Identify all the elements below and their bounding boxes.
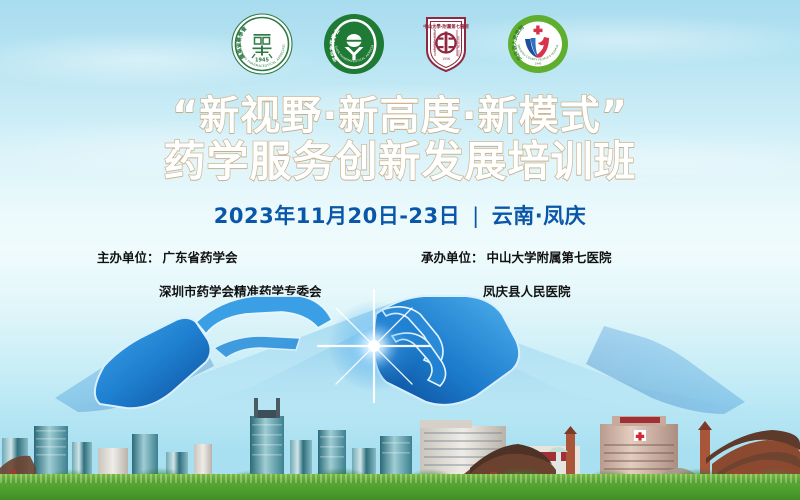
logo-row: 廣東省藥學會 1945 GUANGDONG PHARMACEUTICAL ASS… (0, 8, 800, 80)
cohost-organizer-item-2: 凤庆县人民医院 (483, 284, 571, 299)
svg-text:1956: 1956 (442, 57, 450, 61)
host-organizer-row-1: 主办单位：广东省药学会 (97, 252, 397, 265)
cohost-organizer-label: 承办单位： (421, 250, 484, 265)
cohost-organizer-row-2: 凤庆县人民医院 (421, 286, 721, 299)
cohost-organizer-item-1: 中山大学附属第七医院 (487, 250, 612, 265)
date-location-separator: | (472, 204, 480, 228)
guangdong-pharmaceutical-association-logo: 廣東省藥學會 1945 GUANGDONG PHARMACEUTICAL ASS… (230, 12, 294, 76)
host-organizer-column: 主办单位：广东省药学会 深圳市药学会精准药学专委会 (79, 252, 397, 312)
svg-text:1945: 1945 (255, 58, 269, 64)
host-organizer-row-2: 深圳市药学会精准药学专委会 (97, 286, 397, 299)
cohost-organizer-row-1: 承办单位：中山大学附属第七医院 (421, 252, 721, 265)
svg-text:HOSPITAL SYSU: HOSPITAL SYSU (457, 36, 461, 57)
title-line-1: “新视野·新高度·新模式” (0, 96, 800, 137)
svg-text:1940: 1940 (535, 62, 542, 66)
shenzhen-pharmaceutical-association-logo: 深圳市药学会 SHENZHEN PHARMACEUTICAL ASSOCIATI… (322, 12, 386, 76)
cohost-organizer-column: 承办单位：中山大学附属第七医院 凤庆县人民医院 (409, 252, 721, 312)
event-date-location: 2023年11月20日-23日|云南·凤庆 (0, 200, 800, 230)
event-date: 2023年11月20日-23日 (214, 204, 460, 228)
sun-yat-sen-seventh-hospital-logo: 中山大學·附屬第七醫院 1956 SEVENTH AFFILIATED HOSP… (414, 12, 478, 76)
title-line-2: 药学服务创新发展培训班 (0, 141, 800, 184)
host-organizer-item-2: 深圳市药学会精准药学专委会 (159, 284, 322, 299)
poster-title: “新视野·新高度·新模式” 药学服务创新发展培训班 (0, 96, 800, 184)
grass-band (0, 474, 800, 500)
fengqing-county-peoples-hospital-logo: 凤庆县人民医院 1940 FENGQING COUNTY PEOPLE'S HO… (506, 12, 570, 76)
host-organizer-label: 主办单位： (97, 250, 160, 265)
host-organizer-item-1: 广东省药学会 (163, 250, 238, 265)
conference-poster: 廣東省藥學會 1945 GUANGDONG PHARMACEUTICAL ASS… (0, 0, 800, 500)
city-skyline-panorama (0, 390, 800, 500)
event-location: 云南·凤庆 (492, 204, 586, 228)
svg-text:SEVENTH AFFILIATED: SEVENTH AFFILIATED (433, 23, 437, 52)
organizers-block: 主办单位：广东省药学会 深圳市药学会精准药学专委会 承办单位：中山大学附属第七医… (0, 252, 800, 312)
svg-text:中山大學·附屬第七醫院: 中山大學·附屬第七醫院 (423, 23, 469, 30)
